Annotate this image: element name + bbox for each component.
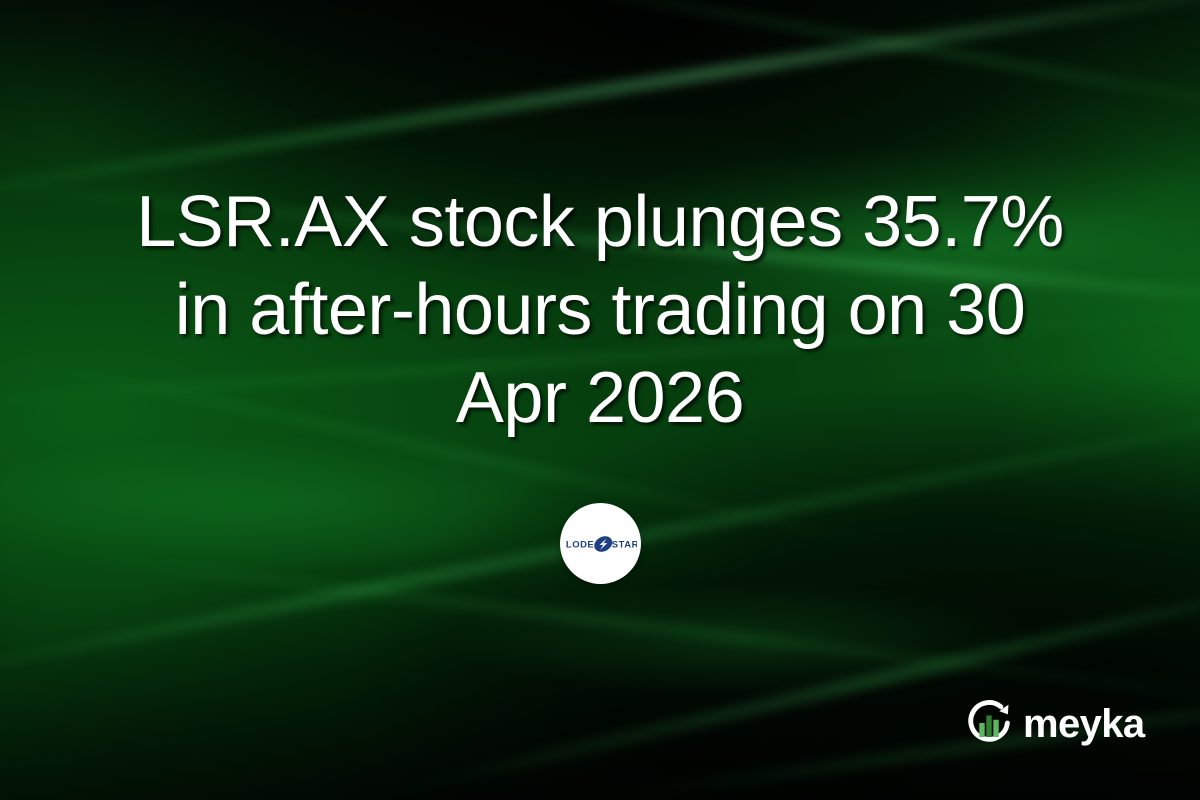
brand-name: meyka: [1023, 704, 1145, 744]
brand-logo: meyka: [962, 696, 1145, 750]
lodestar-logo: LODE STAR: [565, 531, 637, 557]
light-streak: [349, 548, 1200, 800]
meyka-circular-chart-icon: [962, 696, 1016, 750]
svg-text:STAR: STAR: [611, 539, 636, 550]
page-title: LSR.AX stock plunges 35.7% in after-hour…: [55, 178, 1145, 442]
poster-canvas: LSR.AX stock plunges 35.7% in after-hour…: [0, 0, 1200, 800]
svg-text:LODE: LODE: [565, 539, 593, 550]
company-logo-badge: LODE STAR: [560, 503, 641, 584]
light-streak: [439, 0, 1200, 141]
lightning-bolt-icon: [591, 533, 614, 555]
